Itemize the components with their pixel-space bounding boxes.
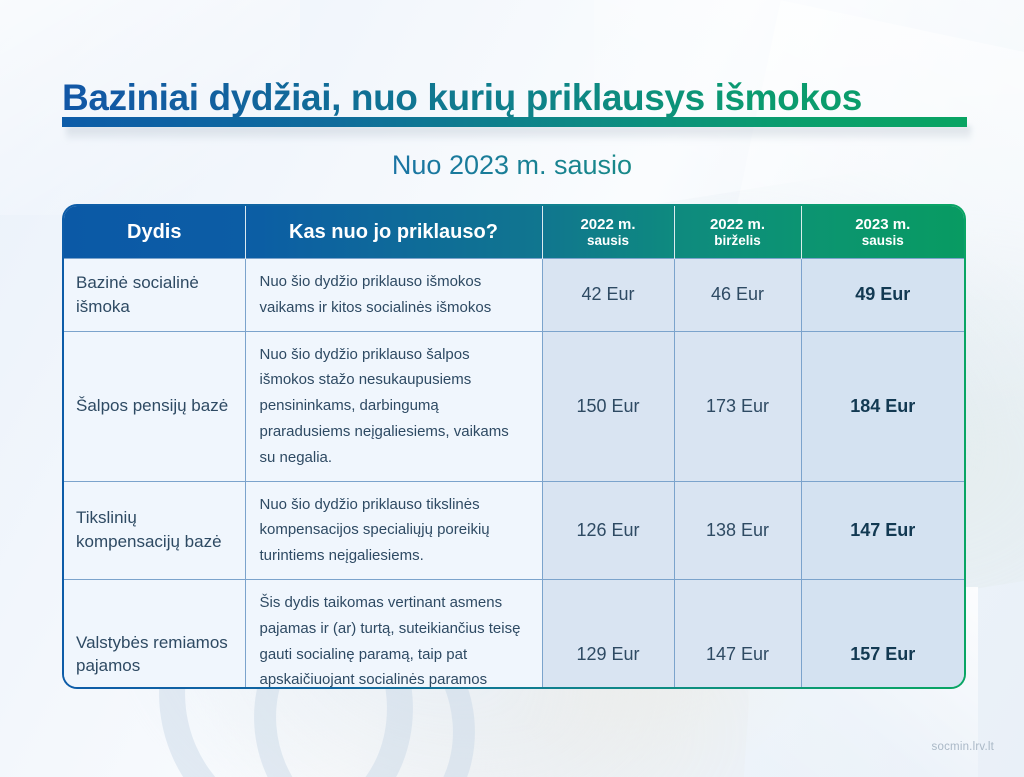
column-header-priklauso-label: Kas nuo jo priklauso? <box>289 221 498 243</box>
column-header-2022-sausis-sub: sausis <box>549 233 668 249</box>
row-description: Nuo šio dydžio priklauso šalpos išmokos … <box>245 331 542 481</box>
table-header-row: Dydis Kas nuo jo priklauso? 2022 m. saus… <box>64 206 964 259</box>
column-header-dydis: Dydis <box>64 206 245 259</box>
row-name: Bazinė socialinė išmoka <box>64 259 245 332</box>
table-row: Tikslinių kompensacijų bazė Nuo šio dydž… <box>64 481 964 579</box>
column-header-2022-sausis: 2022 m. sausis <box>542 206 674 259</box>
infographic-page: Baziniai dydžiai, nuo kurių priklausys i… <box>0 0 1024 777</box>
row-value-2022-sausis: 150 Eur <box>542 331 674 481</box>
column-header-2022-birzelis-label: 2022 m. <box>710 216 765 233</box>
table-inner: Dydis Kas nuo jo priklauso? 2022 m. saus… <box>64 206 964 687</box>
row-name: Tikslinių kompensacijų bazė <box>64 481 245 579</box>
column-header-priklauso: Kas nuo jo priklauso? <box>245 206 542 259</box>
row-name: Šalpos pensijų bazė <box>64 331 245 481</box>
table-gradient-border: Dydis Kas nuo jo priklauso? 2022 m. saus… <box>62 204 966 689</box>
row-name: Valstybės remiamos pajamos <box>64 579 245 687</box>
column-header-2022-sausis-label: 2022 m. <box>580 216 635 233</box>
column-header-2022-birzelis: 2022 m. birželis <box>674 206 801 259</box>
column-header-2023-sausis: 2023 m. sausis <box>801 206 964 259</box>
benefits-table: Dydis Kas nuo jo priklauso? 2022 m. saus… <box>64 206 964 687</box>
column-header-2022-birzelis-sub: birželis <box>681 233 795 249</box>
row-value-2022-birzelis: 46 Eur <box>674 259 801 332</box>
row-value-2022-birzelis: 147 Eur <box>674 579 801 687</box>
row-value-2022-birzelis: 138 Eur <box>674 481 801 579</box>
table-row: Šalpos pensijų bazė Nuo šio dydžio prikl… <box>64 331 964 481</box>
row-value-2022-birzelis: 173 Eur <box>674 331 801 481</box>
row-value-2023-sausis: 157 Eur <box>801 579 964 687</box>
data-table-container: Dydis Kas nuo jo priklauso? 2022 m. saus… <box>62 204 966 689</box>
page-title: Baziniai dydžiai, nuo kurių priklausys i… <box>62 75 982 120</box>
row-value-2023-sausis: 49 Eur <box>801 259 964 332</box>
table-row: Bazinė socialinė išmoka Nuo šio dydžio p… <box>64 259 964 332</box>
title-underline <box>62 117 967 127</box>
row-value-2023-sausis: 147 Eur <box>801 481 964 579</box>
row-value-2022-sausis: 129 Eur <box>542 579 674 687</box>
page-subtitle: Nuo 2023 m. sausio <box>0 150 1024 181</box>
column-header-2023-sausis-sub: sausis <box>808 233 959 249</box>
table-row: Valstybės remiamos pajamos Šis dydis tai… <box>64 579 964 687</box>
title-underline-bar <box>62 117 967 127</box>
row-value-2022-sausis: 126 Eur <box>542 481 674 579</box>
row-description: Nuo šio dydžio priklauso išmokos vaikams… <box>245 259 542 332</box>
source-attribution: socmin.lrv.lt <box>932 741 994 753</box>
row-value-2022-sausis: 42 Eur <box>542 259 674 332</box>
row-description: Šis dydis taikomas vertinant asmens paja… <box>245 579 542 687</box>
row-value-2023-sausis: 184 Eur <box>801 331 964 481</box>
column-header-dydis-label: Dydis <box>127 221 181 243</box>
column-header-2023-sausis-label: 2023 m. <box>855 216 910 233</box>
table-body: Bazinė socialinė išmoka Nuo šio dydžio p… <box>64 259 964 688</box>
table-head: Dydis Kas nuo jo priklauso? 2022 m. saus… <box>64 206 964 259</box>
title-underline-shadow <box>66 126 971 142</box>
row-description: Nuo šio dydžio priklauso tikslinės kompe… <box>245 481 542 579</box>
